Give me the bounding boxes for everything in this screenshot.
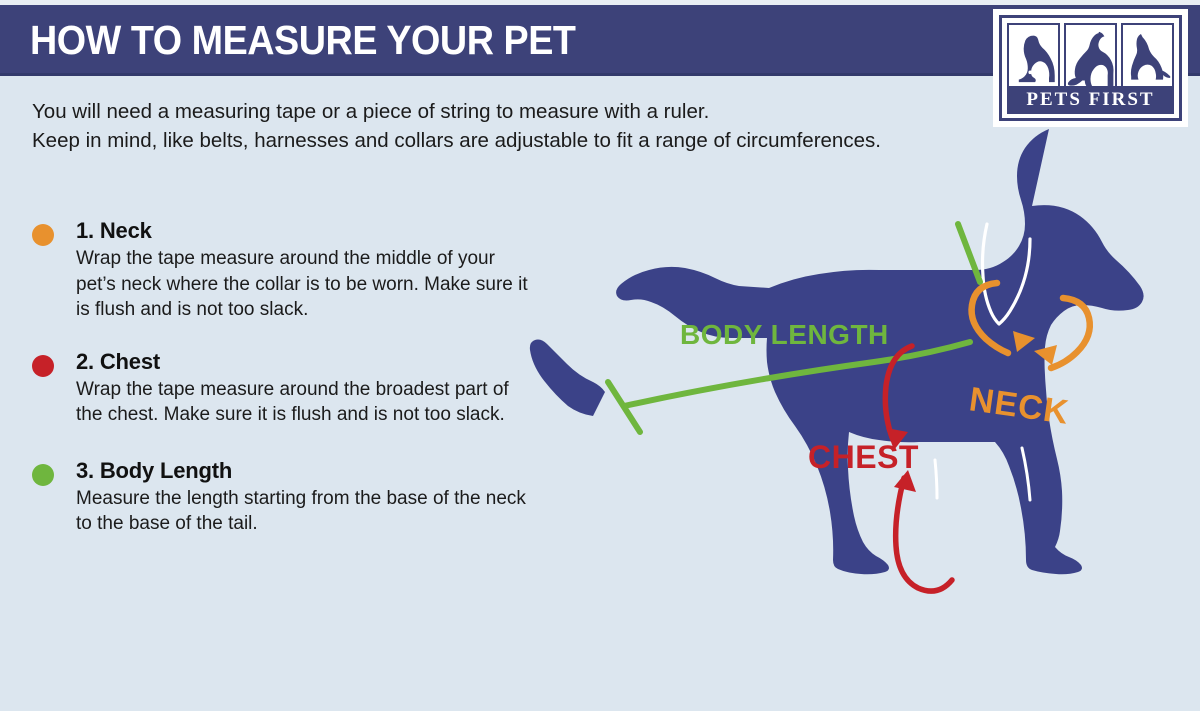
dog-sitting-alert-silhouette-icon [1121, 23, 1174, 89]
brand-logo: PETS FIRST [993, 9, 1188, 127]
bullet-dot-red [32, 355, 54, 377]
step-body-body-length: Measure the length starting from the bas… [76, 486, 533, 537]
dog-sitting-silhouette-icon [1007, 23, 1060, 89]
step-body-chest: Wrap the tape measure around the broades… [76, 377, 533, 428]
step-item-body-length: 3. Body Length Measure the length starti… [28, 458, 533, 537]
bullet-dot-green [32, 464, 54, 486]
intro-line-2: Keep in mind, like belts, harnesses and … [32, 126, 1012, 155]
dog-howling-silhouette-icon [1064, 23, 1117, 89]
step-title-chest: 2. Chest [76, 349, 533, 375]
logo-frame: PETS FIRST [999, 15, 1182, 121]
body-length-label: BODY LENGTH [680, 319, 889, 350]
step-title-neck: 1. Neck [76, 218, 533, 244]
intro-line-1: You will need a measuring tape or a piec… [32, 97, 1012, 126]
step-body-neck: Wrap the tape measure around the middle … [76, 246, 533, 323]
logo-panel-row [1007, 23, 1174, 89]
step-item-neck: 1. Neck Wrap the tape measure around the… [28, 218, 533, 323]
step-title-body-length: 3. Body Length [76, 458, 533, 484]
chest-label: CHEST [808, 439, 919, 475]
logo-wordmark: PETS FIRST [1007, 86, 1174, 114]
intro-text: You will need a measuring tape or a piec… [32, 97, 1012, 155]
infographic-poster: HOW TO MEASURE YOUR PET [0, 0, 1200, 711]
page-title: HOW TO MEASURE YOUR PET [30, 17, 576, 64]
measurement-steps-list: 1. Neck Wrap the tape measure around the… [28, 218, 533, 563]
step-item-chest: 2. Chest Wrap the tape measure around th… [28, 349, 533, 428]
dog-measurement-diagram: BODY LENGTH NECK CHEST [520, 188, 1200, 711]
bullet-dot-orange [32, 224, 54, 246]
